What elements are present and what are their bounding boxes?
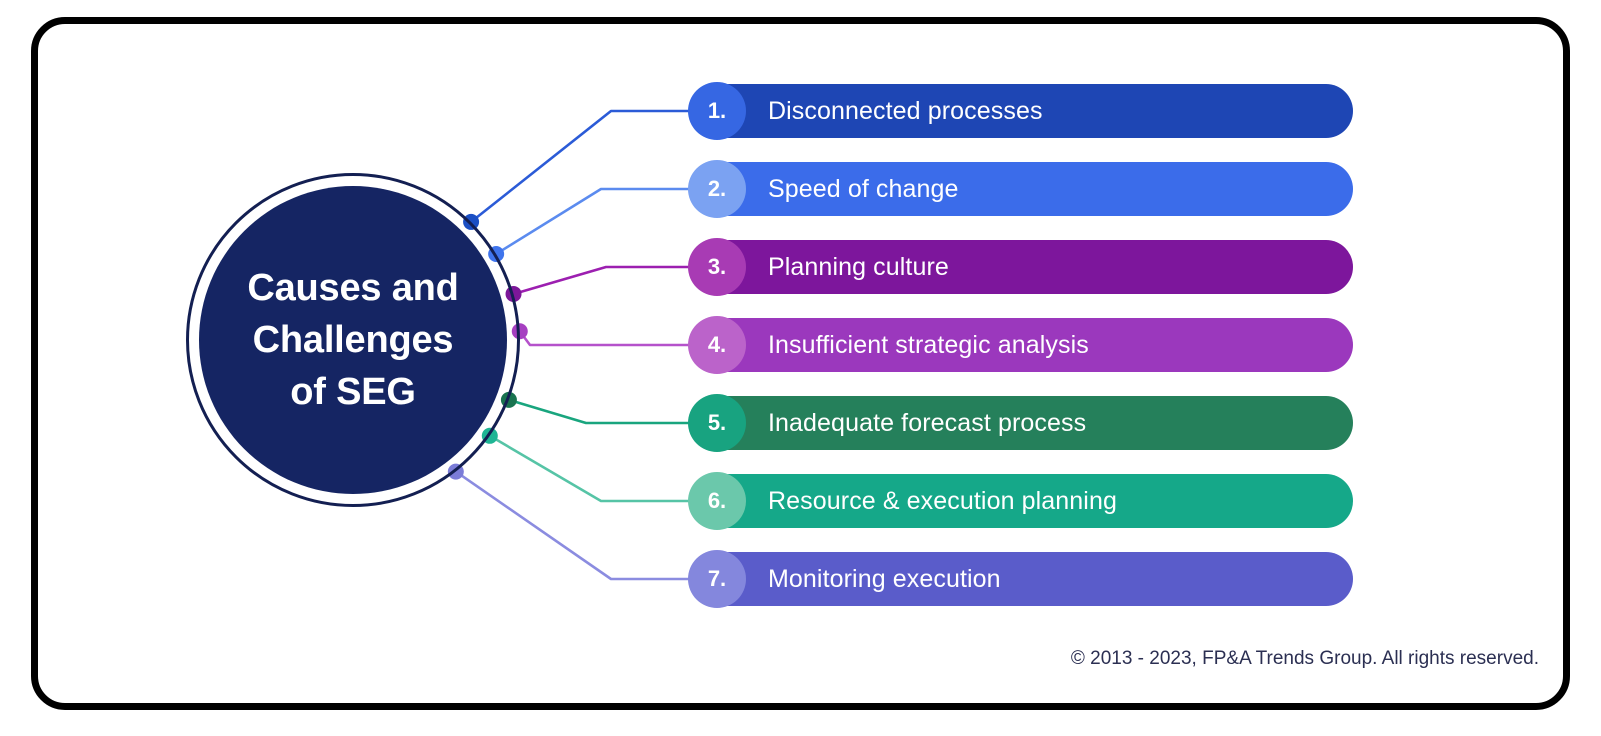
item-label: Disconnected processes	[768, 84, 1043, 138]
item-label: Speed of change	[768, 162, 959, 216]
item-number-badge: 4.	[688, 316, 746, 374]
list-item[interactable]: 5.Inadequate forecast process	[689, 396, 1353, 450]
list-item[interactable]: 2.Speed of change	[689, 162, 1353, 216]
item-number-badge: 7.	[688, 550, 746, 608]
item-label: Inadequate forecast process	[768, 396, 1086, 450]
list-item[interactable]: 4.Insufficient strategic analysis	[689, 318, 1353, 372]
item-number-badge: 3.	[688, 238, 746, 296]
item-label: Resource & execution planning	[768, 474, 1117, 528]
item-number-badge: 5.	[688, 394, 746, 452]
item-bar[interactable]: 7.Monitoring execution	[689, 552, 1353, 606]
diagram-canvas: Causes and Challenges of SEG 1.Disconnec…	[0, 0, 1601, 736]
item-number-badge: 1.	[688, 82, 746, 140]
item-bar[interactable]: 3.Planning culture	[689, 240, 1353, 294]
hub-title: Causes and Challenges of SEG	[247, 262, 458, 418]
list-item[interactable]: 6.Resource & execution planning	[689, 474, 1353, 528]
item-bar[interactable]: 6.Resource & execution planning	[689, 474, 1353, 528]
item-label: Monitoring execution	[768, 552, 1001, 606]
item-bar[interactable]: 5.Inadequate forecast process	[689, 396, 1353, 450]
list-item[interactable]: 3.Planning culture	[689, 240, 1353, 294]
item-number-badge: 2.	[688, 160, 746, 218]
list-item[interactable]: 1.Disconnected processes	[689, 84, 1353, 138]
item-bar[interactable]: 2.Speed of change	[689, 162, 1353, 216]
item-label: Planning culture	[768, 240, 949, 294]
items-list: 1.Disconnected processes2.Speed of chang…	[689, 84, 1353, 630]
item-bar[interactable]: 4.Insufficient strategic analysis	[689, 318, 1353, 372]
item-label: Insufficient strategic analysis	[768, 318, 1089, 372]
item-number-badge: 6.	[688, 472, 746, 530]
list-item[interactable]: 7.Monitoring execution	[689, 552, 1353, 606]
copyright-notice: © 2013 - 2023, FP&A Trends Group. All ri…	[1071, 648, 1539, 670]
item-bar[interactable]: 1.Disconnected processes	[689, 84, 1353, 138]
hub-circle: Causes and Challenges of SEG	[199, 186, 507, 494]
